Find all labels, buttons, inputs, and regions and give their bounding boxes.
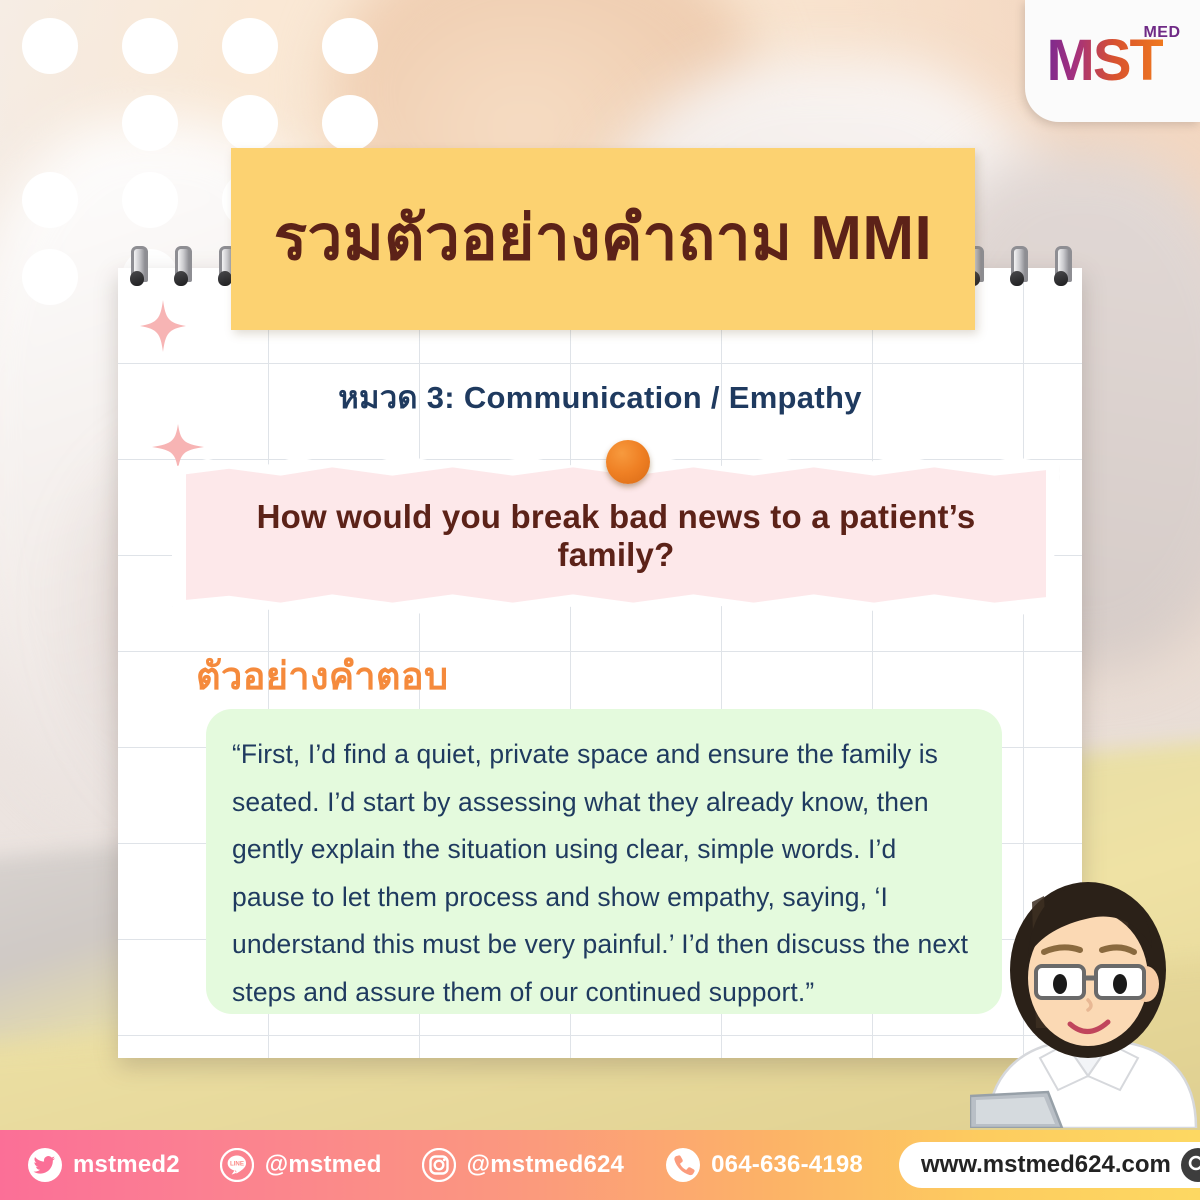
instagram-camera-icon bbox=[422, 1148, 456, 1182]
footer-contact-bar: mstmed2 LINE @mstmed @mstmed624 bbox=[0, 1130, 1200, 1200]
footer-website-pill[interactable]: www.mstmed624.com bbox=[899, 1142, 1200, 1188]
page-title: รวมตัวอย่างคำถาม MMI bbox=[274, 206, 932, 271]
answer-text: “First, I’d find a quiet, private space … bbox=[232, 731, 974, 1016]
logo-inner: MST MED bbox=[1043, 22, 1183, 100]
footer-phone-number: 064-636-4198 bbox=[711, 1151, 863, 1179]
polka-dot bbox=[122, 95, 178, 151]
footer-twitter-handle: mstmed2 bbox=[73, 1151, 180, 1179]
footer-website-url: www.mstmed624.com bbox=[921, 1151, 1171, 1179]
footer-line-handle: @mstmed bbox=[265, 1151, 382, 1179]
answer-section-label: ตัวอย่างคำตอบ bbox=[196, 645, 448, 706]
spiral-ring bbox=[1008, 246, 1028, 286]
spiral-ring bbox=[128, 246, 148, 286]
spiral-ring bbox=[1052, 246, 1072, 286]
search-magnifier-icon[interactable] bbox=[1181, 1148, 1200, 1182]
title-banner: รวมตัวอย่างคำถาม MMI bbox=[231, 148, 975, 330]
polka-dot bbox=[122, 18, 178, 74]
mst-med-logo[interactable]: MST MED bbox=[1025, 0, 1200, 122]
polka-dot bbox=[222, 95, 278, 151]
footer-line[interactable]: LINE @mstmed bbox=[220, 1148, 382, 1182]
twitter-bird-icon bbox=[28, 1148, 62, 1182]
footer-twitter[interactable]: mstmed2 bbox=[28, 1148, 180, 1182]
polka-dot bbox=[22, 249, 78, 305]
polka-dot bbox=[222, 18, 278, 74]
phone-handset-icon bbox=[666, 1148, 700, 1182]
footer-instagram[interactable]: @mstmed624 bbox=[422, 1148, 624, 1182]
spiral-ring bbox=[172, 246, 192, 286]
logo-superscript-text: MED bbox=[1143, 24, 1180, 42]
polka-dot bbox=[322, 95, 378, 151]
answer-card: “First, I’d find a quiet, private space … bbox=[206, 709, 1002, 1014]
polka-dot bbox=[22, 172, 78, 228]
svg-text:LINE: LINE bbox=[230, 1161, 244, 1168]
line-chat-icon: LINE bbox=[220, 1148, 254, 1182]
sparkle-star-top-icon bbox=[140, 300, 186, 352]
polka-dot bbox=[322, 18, 378, 74]
orange-pin-icon bbox=[606, 440, 650, 484]
footer-instagram-handle: @mstmed624 bbox=[467, 1151, 624, 1179]
doctor-illustration bbox=[970, 878, 1200, 1128]
footer-phone[interactable]: 064-636-4198 bbox=[666, 1148, 863, 1182]
polka-dot bbox=[122, 172, 178, 228]
category-subtitle: หมวด 3: Communication / Empathy bbox=[0, 372, 1200, 422]
polka-dot bbox=[22, 18, 78, 74]
